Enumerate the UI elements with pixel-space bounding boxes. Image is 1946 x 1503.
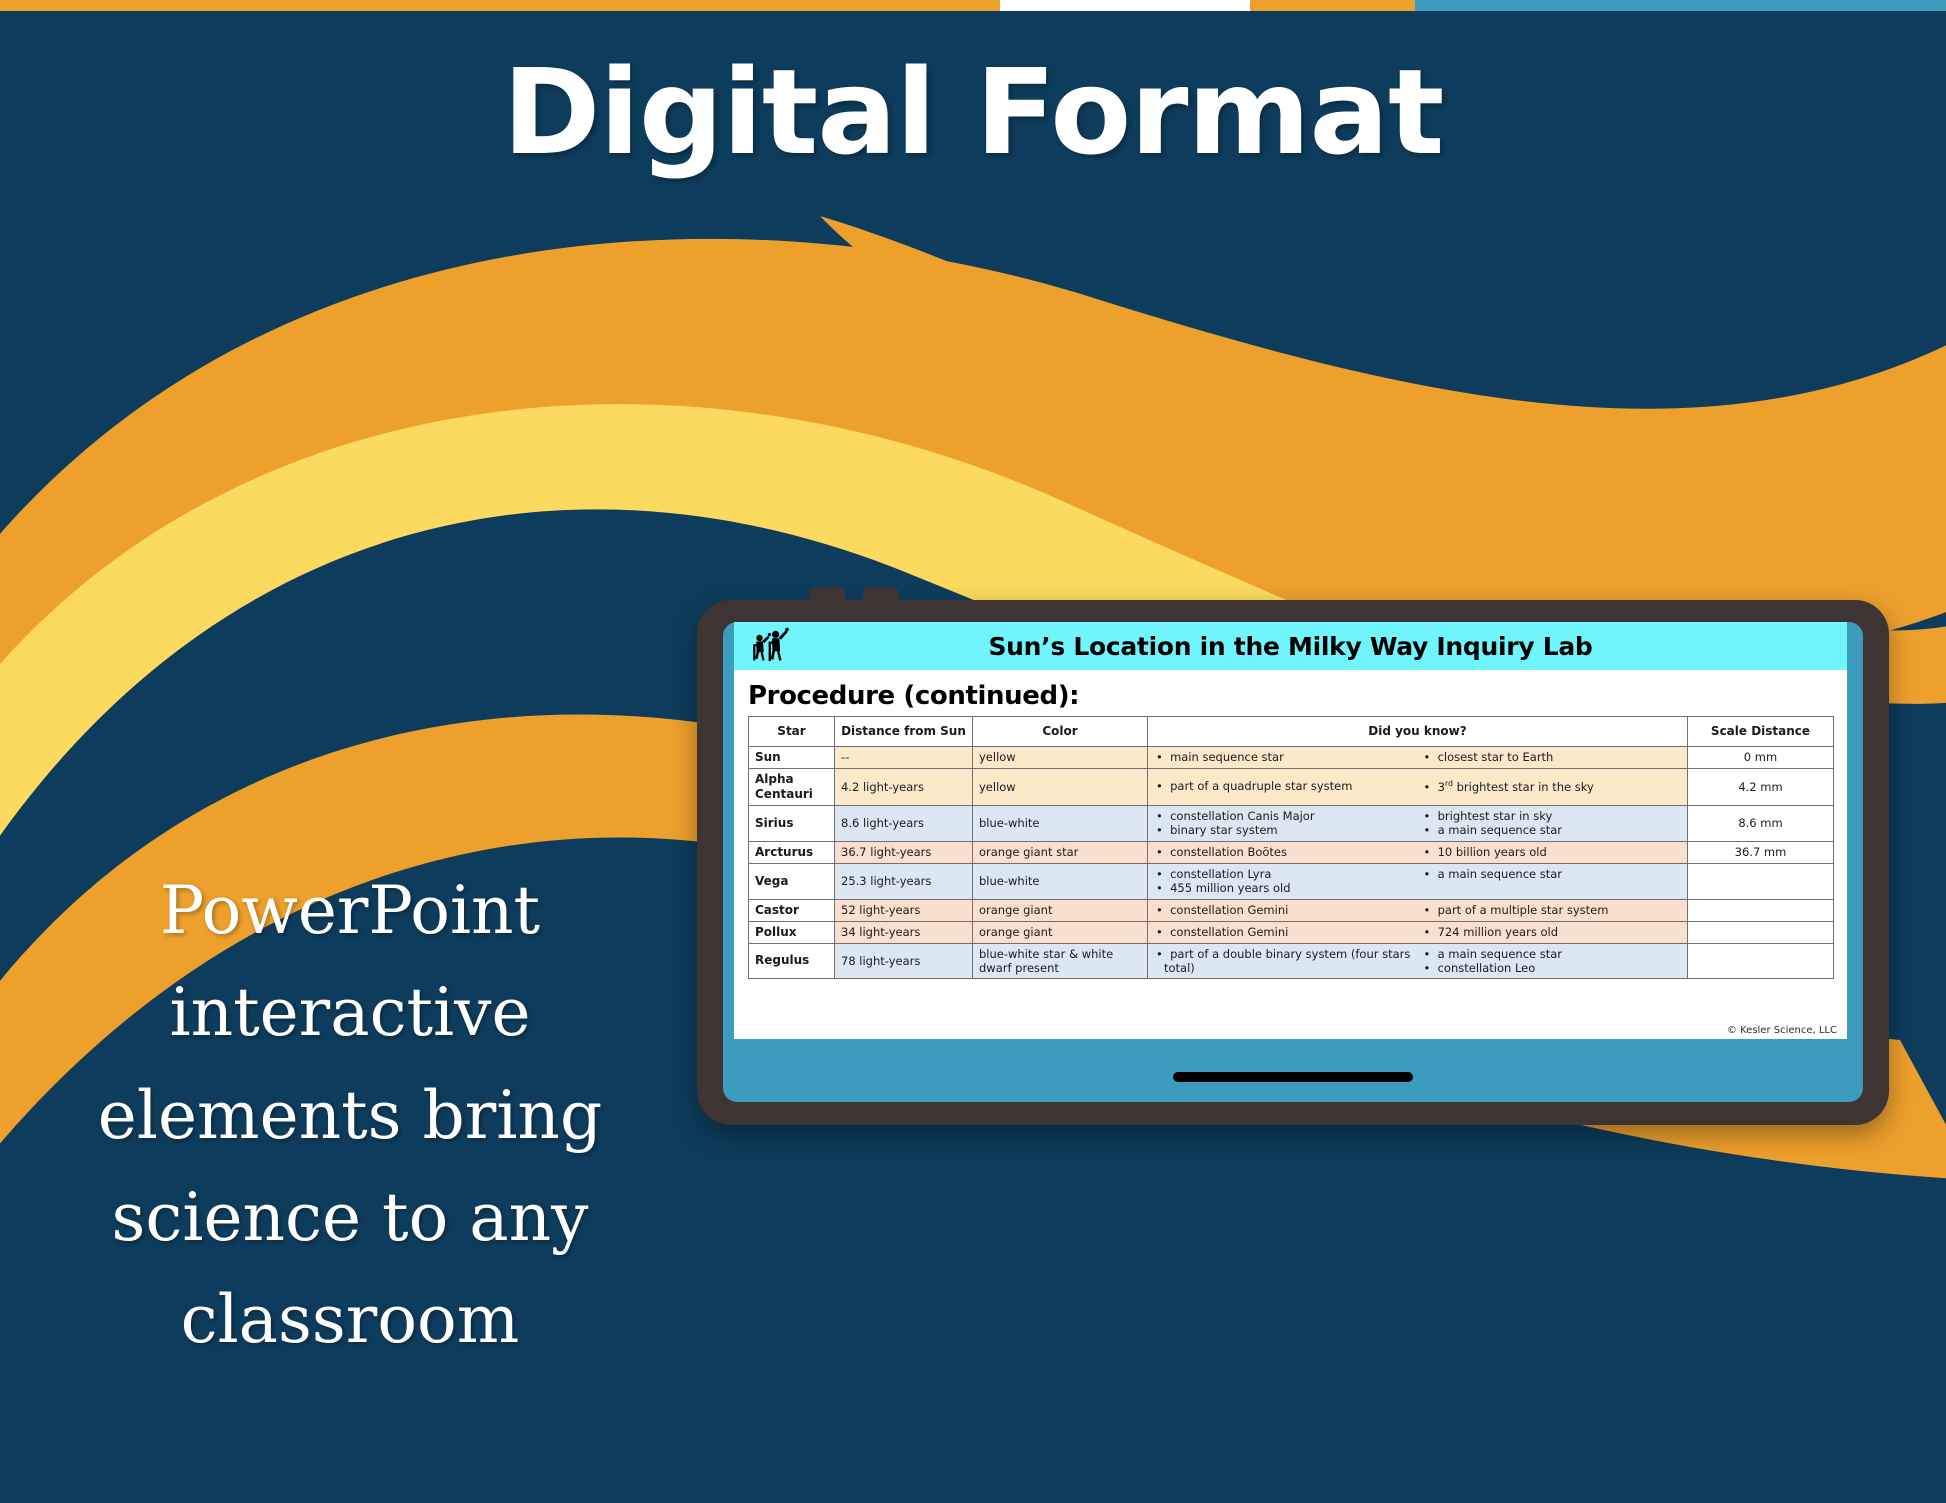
column-header-color: Color: [973, 717, 1148, 747]
fact-column-left: • constellation Gemini: [1150, 903, 1418, 917]
fact-column-right: • 724 million years old: [1418, 925, 1686, 939]
cell-scale-distance: [1688, 863, 1834, 899]
fact-item: • brightest star in sky: [1422, 809, 1682, 823]
fact-column-right: • part of a multiple star system: [1418, 903, 1686, 917]
fact-item: • constellation Boötes: [1154, 845, 1414, 859]
column-header-didyouknow: Did you know?: [1148, 717, 1688, 747]
cell-did-you-know: • constellation Gemini• 724 million year…: [1148, 921, 1688, 943]
fact-item: • constellation Gemini: [1154, 925, 1414, 939]
fact-item: • 3rd brightest star in the sky: [1422, 779, 1682, 794]
fact-item: • closest star to Earth: [1422, 750, 1682, 764]
fact-column-left: • main sequence star: [1150, 750, 1418, 764]
cell-did-you-know: • constellation Boötes• 10 billion years…: [1148, 841, 1688, 863]
fact-column-right: • brightest star in sky• a main sequence…: [1418, 809, 1686, 838]
cell-color: orange giant: [973, 921, 1148, 943]
slide-header-bar: Sun’s Location in the Milky Way Inquiry …: [734, 622, 1847, 670]
fact-item: • 724 million years old: [1422, 925, 1682, 939]
cell-color: orange giant: [973, 899, 1148, 921]
star-data-table: Star Distance from Sun Color Did you kno…: [748, 716, 1834, 979]
fact-column-left: • part of a quadruple star system: [1150, 779, 1418, 794]
cell-distance: 78 light-years: [835, 943, 973, 979]
fact-item: • 10 billion years old: [1422, 845, 1682, 859]
cell-color: yellow: [973, 769, 1148, 806]
cell-distance: 34 light-years: [835, 921, 973, 943]
cell-color: orange giant star: [973, 841, 1148, 863]
table-row: Arcturus36.7 light-yearsorange giant sta…: [749, 841, 1834, 863]
cell-did-you-know: • constellation Lyra• 455 million years …: [1148, 863, 1688, 899]
camera-bump-icon: [809, 587, 845, 607]
top-strip-segment-orange-left: [0, 0, 1000, 11]
students-raising-hands-icon: [748, 627, 794, 667]
cell-scale-distance: 4.2 mm: [1688, 769, 1834, 806]
top-strip-segment-white: [1000, 0, 1250, 11]
cell-scale-distance: 0 mm: [1688, 747, 1834, 769]
cell-did-you-know: • constellation Gemini• part of a multip…: [1148, 899, 1688, 921]
cell-did-you-know: • part of a double binary system (four s…: [1148, 943, 1688, 979]
column-header-scale: Scale Distance: [1688, 717, 1834, 747]
slide-copyright: © Kesler Science, LLC: [1727, 1025, 1837, 1036]
fact-item: • part of a double binary system (four s…: [1154, 947, 1414, 976]
cell-star-name: Arcturus: [749, 841, 835, 863]
cell-scale-distance: [1688, 899, 1834, 921]
cell-distance: 52 light-years: [835, 899, 973, 921]
table-row: Alpha Centauri4.2 light-yearsyellow• par…: [749, 769, 1834, 806]
cell-did-you-know: • part of a quadruple star system• 3rd b…: [1148, 769, 1688, 806]
fact-column-left: • constellation Lyra• 455 million years …: [1150, 867, 1418, 896]
cell-star-name: Pollux: [749, 921, 835, 943]
cell-distance: 25.3 light-years: [835, 863, 973, 899]
cell-distance: --: [835, 747, 973, 769]
fact-item: • a main sequence star: [1422, 823, 1682, 837]
cell-distance: 4.2 light-years: [835, 769, 973, 806]
fact-item: • constellation Gemini: [1154, 903, 1414, 917]
fact-column-right: • 3rd brightest star in the sky: [1418, 779, 1686, 794]
fact-column-right: • a main sequence star: [1418, 867, 1686, 896]
fact-item: • constellation Lyra: [1154, 867, 1414, 881]
cell-star-name: Regulus: [749, 943, 835, 979]
table-header-row: Star Distance from Sun Color Did you kno…: [749, 717, 1834, 747]
cell-scale-distance: 8.6 mm: [1688, 806, 1834, 842]
fact-column-right: • closest star to Earth: [1418, 750, 1686, 764]
fact-column-left: • constellation Boötes: [1150, 845, 1418, 859]
cell-star-name: Vega: [749, 863, 835, 899]
page-title-text: Digital Format: [503, 48, 1444, 178]
fact-item: • constellation Leo: [1422, 961, 1682, 975]
top-accent-strip: [0, 0, 1946, 11]
fact-item: • 455 million years old: [1154, 881, 1414, 895]
fact-item: • part of a quadruple star system: [1154, 779, 1414, 793]
fact-column-left: • constellation Gemini: [1150, 925, 1418, 939]
table-row: Sun--yellow• main sequence star• closest…: [749, 747, 1834, 769]
top-strip-segment-teal: [1415, 0, 1946, 11]
table-row: Sirius8.6 light-yearsblue-white• constel…: [749, 806, 1834, 842]
table-row: Castor52 light-yearsorange giant• conste…: [749, 899, 1834, 921]
table-row: Pollux34 light-yearsorange giant• conste…: [749, 921, 1834, 943]
fact-item: • a main sequence star: [1422, 867, 1682, 881]
table-body: Sun--yellow• main sequence star• closest…: [749, 747, 1834, 979]
cell-color: yellow: [973, 747, 1148, 769]
presentation-slide: Sun’s Location in the Milky Way Inquiry …: [734, 622, 1847, 1039]
fact-column-right: • a main sequence star• constellation Le…: [1418, 947, 1686, 976]
fact-column-left: • constellation Canis Major• binary star…: [1150, 809, 1418, 838]
cell-distance: 36.7 light-years: [835, 841, 973, 863]
fact-item: • constellation Canis Major: [1154, 809, 1414, 823]
cell-did-you-know: • main sequence star• closest star to Ea…: [1148, 747, 1688, 769]
tablet-frame: Sun’s Location in the Milky Way Inquiry …: [697, 600, 1889, 1125]
cell-star-name: Castor: [749, 899, 835, 921]
body-copy-text: PowerPoint interactive elements bring sc…: [20, 860, 680, 1371]
cell-scale-distance: [1688, 921, 1834, 943]
column-header-distance: Distance from Sun: [835, 717, 973, 747]
slide-canvas: Digital Format PowerPoint interactive el…: [0, 0, 1946, 1503]
slide-title: Sun’s Location in the Milky Way Inquiry …: [734, 632, 1847, 661]
table-row: Vega25.3 light-yearsblue-white• constell…: [749, 863, 1834, 899]
top-strip-segment-orange-right: [1250, 0, 1415, 11]
page-title: Digital Format: [0, 48, 1946, 178]
cell-star-name: Sirius: [749, 806, 835, 842]
cell-color: blue-white star & white dwarf present: [973, 943, 1148, 979]
cell-star-name: Sun: [749, 747, 835, 769]
home-indicator-bar[interactable]: [1173, 1072, 1413, 1082]
tablet-device: Sun’s Location in the Milky Way Inquiry …: [697, 600, 1889, 1125]
fact-item: • part of a multiple star system: [1422, 903, 1682, 917]
cell-star-name: Alpha Centauri: [749, 769, 835, 806]
fact-item: • binary star system: [1154, 823, 1414, 837]
cell-did-you-know: • constellation Canis Major• binary star…: [1148, 806, 1688, 842]
column-header-star: Star: [749, 717, 835, 747]
cell-color: blue-white: [973, 806, 1148, 842]
tablet-screen[interactable]: Sun’s Location in the Milky Way Inquiry …: [723, 622, 1863, 1102]
cell-distance: 8.6 light-years: [835, 806, 973, 842]
fact-column-left: • part of a double binary system (four s…: [1150, 947, 1418, 976]
cell-scale-distance: 36.7 mm: [1688, 841, 1834, 863]
cell-scale-distance: [1688, 943, 1834, 979]
fact-column-right: • 10 billion years old: [1418, 845, 1686, 859]
cell-color: blue-white: [973, 863, 1148, 899]
camera-bump-icon: [863, 587, 899, 607]
fact-item: • main sequence star: [1154, 750, 1414, 764]
slide-subtitle: Procedure (continued):: [748, 681, 1847, 711]
fact-item: • a main sequence star: [1422, 947, 1682, 961]
table-row: Regulus78 light-yearsblue-white star & w…: [749, 943, 1834, 979]
